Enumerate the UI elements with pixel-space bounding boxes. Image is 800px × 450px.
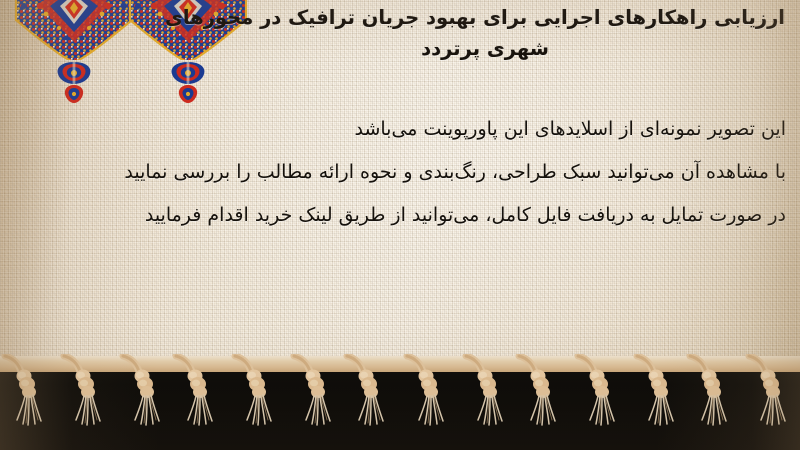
persian-pendant-ornament-left-lower — [63, 85, 85, 103]
left-ornament-group — [14, 0, 134, 103]
bottom-black-band — [0, 370, 800, 450]
slide-body-line-2: با مشاهده آن می‌توانید سبک طراحی، رنگ‌بن… — [4, 151, 786, 194]
slide-body: این تصویر نمونه‌ای از اسلایدهای این پاور… — [4, 108, 786, 237]
slide-title-line-1: ارزیابی راهکارهای اجرایی برای بهبود جریا… — [185, 2, 785, 33]
slide-body-line-1: این تصویر نمونه‌ای از اسلایدهای این پاور… — [4, 108, 786, 151]
persian-pendant-ornament-left-upper — [54, 62, 94, 84]
persian-pendant-ornament-right-lower — [177, 85, 199, 103]
persian-medallion-ornament-left — [14, 0, 134, 60]
slide-title: ارزیابی راهکارهای اجرایی برای بهبود جریا… — [185, 2, 785, 64]
slide-title-line-2: شهری پرتردد — [185, 33, 785, 64]
slide-body-line-3: در صورت تمایل به دریافت فایل کامل، می‌تو… — [4, 194, 786, 237]
persian-pendant-ornament-right-upper — [168, 62, 208, 84]
slide-canvas: ارزیابی راهکارهای اجرایی برای بهبود جریا… — [0, 0, 800, 450]
carpet-fringe-edge — [0, 356, 800, 372]
